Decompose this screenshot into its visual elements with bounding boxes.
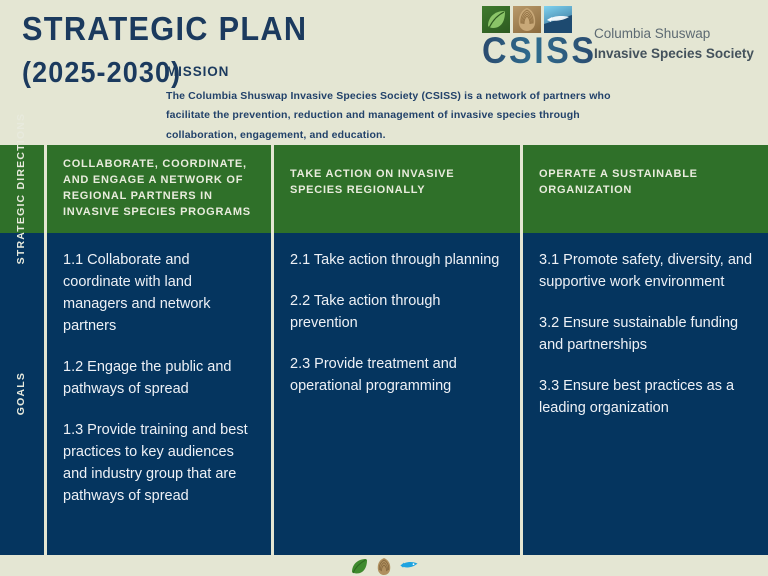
fish-icon — [399, 557, 419, 575]
direction-cell-1: COLLABORATE, COORDINATE, AND ENGAGE A NE… — [47, 145, 271, 233]
logo-org-line1: Columbia Shuswap — [594, 24, 754, 44]
column-divider-2 — [271, 145, 274, 555]
leaf-icon — [349, 557, 369, 575]
logo-mark-group — [482, 6, 572, 33]
poster-header: STRATEGIC PLAN (2025-2030) MISSION The C… — [0, 0, 768, 145]
csiss-logo: CSISS Columbia Shuswap Invasive Species … — [482, 6, 760, 68]
logo-org-line2: Invasive Species Society — [594, 44, 754, 64]
goal-item: 1.3 Provide training and best practices … — [63, 419, 257, 507]
goal-item: 3.3 Ensure best practices as a leading o… — [539, 375, 754, 419]
mission-statement: The Columbia Shuswap Invasive Species So… — [166, 87, 641, 145]
goal-item: 3.2 Ensure sustainable funding and partn… — [539, 312, 754, 356]
poster-footer — [0, 555, 768, 576]
goal-item: 2.3 Provide treatment and operational pr… — [290, 353, 506, 397]
strategic-plan-poster: STRATEGIC PLAN (2025-2030) MISSION The C… — [0, 0, 768, 576]
goals-cell-1: 1.1 Collaborate and coordinate with land… — [47, 233, 271, 555]
goal-item: 2.2 Take action through prevention — [290, 290, 506, 334]
column-divider-1 — [44, 145, 47, 555]
row-label-goals-text: GOALS — [15, 372, 28, 415]
goals-cell-2: 2.1 Take action through planning 2.2 Tak… — [274, 233, 520, 555]
column-divider-3 — [520, 145, 523, 555]
goals-cell-3: 3.1 Promote safety, diversity, and suppo… — [523, 233, 768, 555]
footer-icon-group — [0, 557, 768, 575]
direction-cell-3: OPERATE A SUSTAINABLE ORGANIZATION — [523, 145, 768, 233]
mussel-shell-icon — [374, 557, 394, 575]
page-title: STRATEGIC PLAN — [22, 10, 245, 48]
goal-item: 2.1 Take action through planning — [290, 249, 506, 271]
mission-block: MISSION The Columbia Shuswap Invasive Sp… — [166, 64, 666, 145]
strategy-matrix: STRATEGIC DIRECTIONS GOALS COLLABORATE, … — [0, 145, 768, 555]
water-fish-icon — [544, 6, 572, 33]
direction-cell-2: TAKE ACTION ON INVASIVE SPECIES REGIONAL… — [274, 145, 520, 233]
leaf-icon — [482, 6, 510, 33]
goal-item: 1.2 Engage the public and pathways of sp… — [63, 356, 257, 400]
goal-item: 1.1 Collaborate and coordinate with land… — [63, 249, 257, 337]
row-label-strategic-directions: STRATEGIC DIRECTIONS — [0, 145, 44, 233]
goal-item: 3.1 Promote safety, diversity, and suppo… — [539, 249, 754, 293]
logo-wordmark: CSISS — [482, 33, 597, 70]
mussel-shell-icon — [513, 6, 541, 33]
row-label-goals: GOALS — [0, 233, 44, 555]
logo-org-name: Columbia Shuswap Invasive Species Societ… — [594, 24, 754, 63]
